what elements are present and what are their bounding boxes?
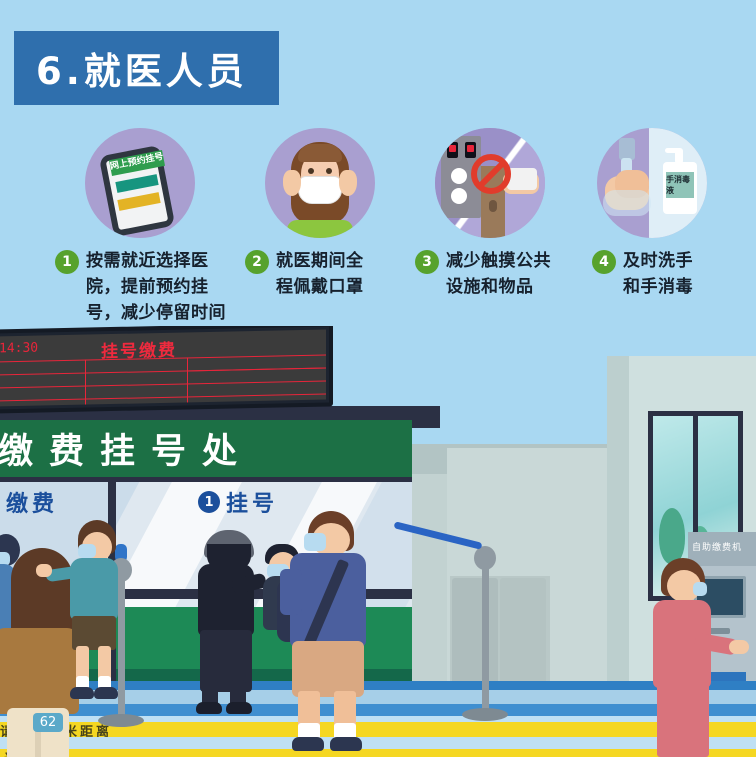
person-fg-shoe-left [292,737,324,751]
tip-caption-4: 4 及时洗手 和手消毒 [592,248,742,300]
person-fg-mask [304,533,326,551]
handwash-sanitizer-icon: 手消毒液 [597,128,707,238]
person-fg-shorts [292,641,364,697]
sanitizer-nozzle [665,148,681,153]
face-mask-icon [298,176,342,204]
service-window-1-number: 1 [198,491,220,513]
tip-number-2: 2 [245,250,269,274]
eye-right [326,168,332,174]
kiosk-header: 自助缴费机 [688,532,756,566]
tip-caption-2: 2 就医期间全 程佩戴口罩 [245,248,415,300]
tip-item-3: 3 减少触摸公共 设施和物品 [435,128,545,238]
person-4-body [198,564,254,636]
floor-light-band-3 [0,737,756,749]
person-3-hand [36,564,52,577]
tip-number-4: 4 [592,250,616,274]
person-kiosk-hand [729,640,749,654]
person-2-body [0,628,79,714]
eye-left [308,168,314,174]
tip-text-1: 按需就近选择医 院，提前预约挂 号，减少停留时间 [86,248,226,326]
shirt [287,220,353,238]
tip-item-2: 2 就医期间全 程佩戴口罩 [265,128,375,238]
water-splash [603,190,651,216]
tip-text-4: 及时洗手 和手消毒 [623,248,693,300]
tree-shape [659,508,685,564]
person-kiosk-legs [657,682,709,757]
tip-caption-1: 1 按需就近选择医 院，提前预约挂 号，减少停留时间 [55,248,245,326]
kiosk-label: 自助缴费机 [692,540,742,553]
stanchion-base [98,714,144,727]
led-time: 14:30 [0,341,38,357]
hall-sign: 缴费挂号处 [0,420,412,477]
tip-text-3-line-1: 减少触摸公共 [446,248,551,274]
no-touch-public-surfaces-icon [435,128,545,238]
tip-number-1: 1 [55,250,79,274]
person-3-shoe-right [94,687,118,699]
woman-wearing-mask-icon [265,128,375,238]
tip-item-4: 手消毒液 4 及时洗手 和手消毒 [597,128,707,238]
keyhole [489,200,497,212]
tip-text-1-line-3: 号，减少停留时间 [86,300,226,326]
led-table-grid [0,355,326,407]
led-display-board: 14:30 挂号缴费 [0,326,333,414]
hand-left [283,170,301,196]
person-kiosk-mask [693,582,707,596]
hand-right [339,170,357,196]
tip-text-3: 减少触摸公共 设施和物品 [446,248,551,300]
floor-indicator-1 [447,142,458,158]
tip-text-2-line-2: 程佩戴口罩 [276,274,364,300]
hall-sign-text: 缴费挂号处 [0,423,253,474]
floor-indicator-2 [465,142,476,158]
person-3-shoe-left [70,687,94,699]
stanchion-pole [118,574,125,719]
title-banner: 6.就医人员 [14,31,279,105]
phone-online-appointment-icon: 网上预约挂号 [85,128,195,238]
floor-distance-stripe-2: 请保持一米距离 [0,749,756,757]
tip-text-2: 就医期间全 程佩戴口罩 [276,248,364,300]
person-fg-shoe-right [330,737,362,751]
person-4-shoe-left [196,702,222,714]
tip-text-4-line-2: 和手消毒 [623,274,693,300]
tip-number-3: 3 [415,250,439,274]
tip-text-1-line-2: 院，提前预约挂 [86,274,226,300]
glass-mullion-bottom [0,477,412,482]
person-fg-arm [280,569,302,615]
tissue [507,168,537,190]
stanchion-base-2 [462,708,508,721]
sanitizer-label: 手消毒液 [666,172,694,198]
service-window-1-label: 挂号 [226,486,278,518]
page-title: 6.就医人员 [14,41,248,95]
page-number-badge: 62 [33,713,63,732]
elevator-down-button [451,188,467,204]
tips-row: 网上预约挂号 1 按需就近选择医 院，提前预约挂 号，减少停留时间 [0,128,756,328]
service-window-1: 1 挂号 [198,486,278,518]
person-3-body [70,558,118,620]
faucet-icon [619,138,635,160]
sanitizer-label-text: 手消毒液 [666,174,694,196]
person-3-mask [78,544,96,558]
person-4-shoe-right [226,702,252,714]
stanchion-pole-2 [482,562,489,712]
service-window-2: 2 缴费 [0,486,58,518]
led-screen: 14:30 挂号缴费 [0,330,326,407]
elevator-up-button [451,168,467,184]
hospital-scene-illustration: 缴费挂号处 2 缴费 1 挂号 [0,326,756,757]
tip-text-2-line-1: 就医期间全 [276,248,364,274]
tip-caption-3: 3 减少触摸公共 设施和物品 [415,248,585,300]
tip-text-1-line-1: 按需就近选择医 [86,248,226,274]
person-3-shorts [72,616,116,650]
tip-text-4-line-1: 及时洗手 [623,248,693,274]
hair-front [298,144,342,162]
tip-text-3-line-2: 设施和物品 [446,274,551,300]
poster-root: 6.就医人员 网上预约挂号 1 按需就近选择医 院，提前预约挂 号，减少停留时间 [0,0,756,757]
tip-item-1: 网上预约挂号 1 按需就近选择医 院，提前预约挂 号，减少停留时间 [85,128,195,238]
service-window-2-label: 缴费 [6,486,58,518]
